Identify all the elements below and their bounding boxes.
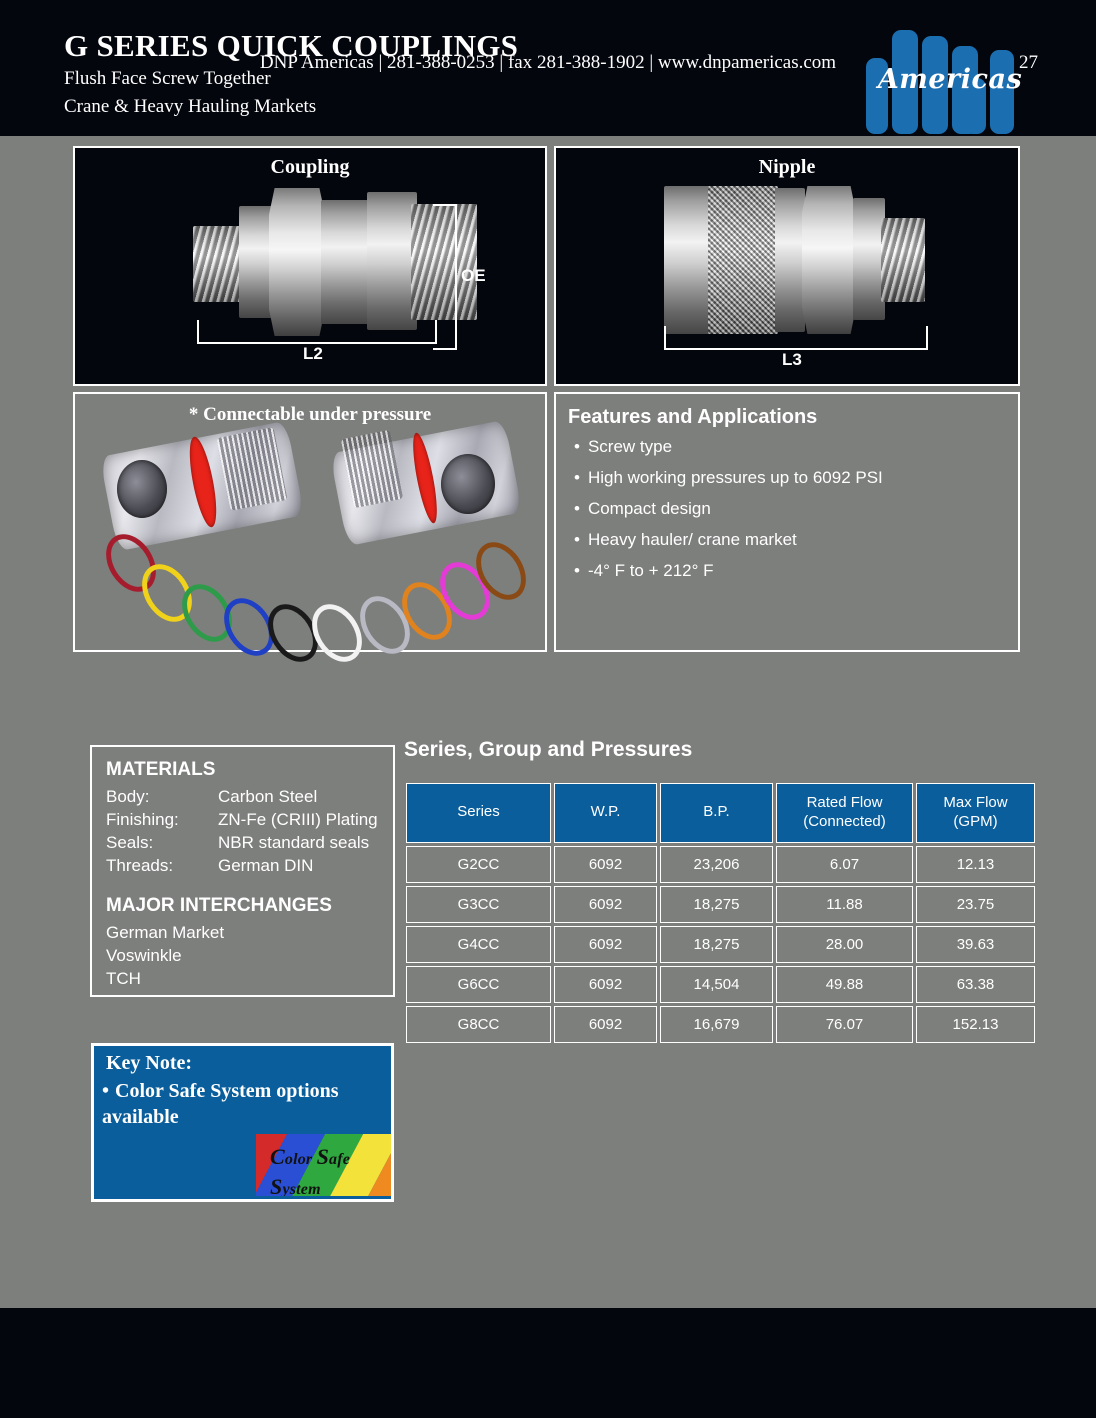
connectable-panel: * Connectable under pressure [73, 392, 547, 652]
nipple-dim-l3-label: L3 [782, 350, 802, 370]
materials-row-key: Threads: [106, 856, 173, 876]
cell-max-flow: 12.13 [916, 846, 1035, 883]
cell-series: G8CC [406, 1006, 551, 1043]
column-header-bp: B.P. [660, 783, 773, 843]
coupler-left-bore [117, 460, 167, 518]
cs-letter-s1: S [317, 1144, 329, 1169]
key-note-text: Color Safe System options available [102, 1080, 339, 1128]
key-note-title: Key Note: [106, 1052, 192, 1075]
dnp-americas-logo: Americas [860, 16, 1030, 134]
cell-bp: 16,679 [660, 1006, 773, 1043]
cell-wp: 6092 [554, 1006, 657, 1043]
feature-item: Heavy hauler/ crane market [574, 531, 883, 548]
cell-bp: 18,275 [660, 926, 773, 963]
interchange-item: TCH [106, 969, 141, 989]
materials-row-value: NBR standard seals [218, 833, 369, 853]
table-row: G4CC 6092 18,275 28.00 39.63 [406, 926, 1035, 963]
cell-bp: 18,275 [660, 886, 773, 923]
cell-series: G3CC [406, 886, 551, 923]
cs-letter-c: C [270, 1144, 285, 1169]
cs-ystem: ystem [282, 1181, 320, 1196]
cell-max-flow: 152.13 [916, 1006, 1035, 1043]
cs-letter-s2: S [270, 1174, 282, 1196]
coupling-dim-l2-bracket [197, 320, 437, 344]
materials-row-key: Seals: [106, 833, 153, 853]
nipple-body-end [664, 186, 712, 334]
cell-rated-flow: 28.00 [776, 926, 913, 963]
materials-heading: MATERIALS [106, 759, 215, 781]
cell-bp: 14,504 [660, 966, 773, 1003]
cs-olor: olor [285, 1151, 312, 1168]
coupling-body-2 [367, 192, 417, 330]
column-header-wp: W.P. [554, 783, 657, 843]
column-header-max-flow: Max Flow (GPM) [916, 783, 1035, 843]
footer-band [0, 1308, 1096, 1418]
features-heading: Features and Applications [568, 406, 817, 429]
cell-wp: 6092 [554, 886, 657, 923]
nipple-knurled-sleeve [708, 186, 778, 334]
cell-wp: 6092 [554, 846, 657, 883]
cell-series: G4CC [406, 926, 551, 963]
table-row: G6CC 6092 14,504 49.88 63.38 [406, 966, 1035, 1003]
cell-max-flow: 39.63 [916, 926, 1035, 963]
cs-afe: afe [329, 1151, 350, 1168]
materials-row-key: Finishing: [106, 810, 179, 830]
feature-item: Compact design [574, 500, 883, 517]
cell-bp: 23,206 [660, 846, 773, 883]
cell-rated-flow: 6.07 [776, 846, 913, 883]
cell-series: G2CC [406, 846, 551, 883]
interchange-item: Voswinkle [106, 946, 182, 966]
interchange-item: German Market [106, 923, 224, 943]
table-row: G3CC 6092 18,275 11.88 23.75 [406, 886, 1035, 923]
key-note-bullet: • [102, 1080, 109, 1102]
spec-table: Series W.P. B.P. Rated Flow (Connected) … [403, 780, 1038, 1046]
feature-item: -4° F to + 212° F [574, 562, 883, 579]
interchanges-heading: MAJOR INTERCHANGES [106, 895, 332, 917]
table-row: G8CC 6092 16,679 76.07 152.13 [406, 1006, 1035, 1043]
materials-row-value: German DIN [218, 856, 313, 876]
feature-item: Screw type [574, 438, 883, 455]
color-safe-system-logo: Color Safe System [256, 1134, 391, 1196]
features-panel: Features and Applications Screw type Hig… [554, 392, 1020, 652]
nipple-collar [775, 188, 805, 332]
coupling-hex-nut [269, 188, 325, 336]
cell-series: G6CC [406, 966, 551, 1003]
materials-box: MATERIALS Body: Carbon Steel Finishing: … [90, 745, 395, 997]
cell-wp: 6092 [554, 926, 657, 963]
column-header-series: Series [406, 783, 551, 843]
cell-rated-flow: 76.07 [776, 1006, 913, 1043]
features-list: Screw type High working pressures up to … [574, 438, 883, 593]
color-safe-wordmark: Color Safe System [270, 1142, 350, 1196]
coupling-dim-oe-label: OE [461, 266, 486, 286]
spec-table-title: Series, Group and Pressures [404, 738, 692, 762]
key-note-box: Key Note: •Color Safe System options ava… [91, 1043, 394, 1202]
coupling-body-1 [321, 200, 373, 324]
materials-row-key: Body: [106, 787, 149, 807]
table-header-row: Series W.P. B.P. Rated Flow (Connected) … [406, 783, 1035, 843]
title-block: G SERIES QUICK COUPLINGS Flush Face Scre… [64, 30, 518, 120]
nipple-thread [881, 218, 925, 302]
coupler-right-bore [441, 454, 495, 514]
nipple-image-panel: Nipple L3 [554, 146, 1020, 386]
nipple-illustration: L3 [556, 148, 1018, 384]
feature-item: High working pressures up to 6092 PSI [574, 469, 883, 486]
column-header-rated-flow: Rated Flow (Connected) [776, 783, 913, 843]
connectable-panel-title: * Connectable under pressure [75, 404, 545, 426]
coupling-thread-left [193, 226, 243, 302]
table-row: G2CC 6092 23,206 6.07 12.13 [406, 846, 1035, 883]
datasheet-page: G SERIES QUICK COUPLINGS Flush Face Scre… [0, 0, 1096, 1418]
coupling-dim-l2-label: L2 [303, 344, 323, 364]
materials-row-value: Carbon Steel [218, 787, 317, 807]
footer-contact-info: DNP Americas | 281-388-0253 | fax 281-38… [0, 52, 1096, 74]
cell-max-flow: 23.75 [916, 886, 1035, 923]
footer-page-number: 27 [1019, 52, 1038, 74]
cell-rated-flow: 11.88 [776, 886, 913, 923]
nipple-dim-l3-bracket [664, 326, 928, 350]
cell-max-flow: 63.38 [916, 966, 1035, 1003]
coupling-illustration: L2 OE [75, 148, 545, 384]
cell-rated-flow: 49.88 [776, 966, 913, 1003]
nipple-hex-nut [802, 186, 856, 334]
key-note-text-wrapper: •Color Safe System options available [102, 1078, 387, 1130]
coupling-image-panel: Coupling L2 OE [73, 146, 547, 386]
materials-row-value: ZN-Fe (CRIII) Plating [218, 810, 378, 830]
cell-wp: 6092 [554, 966, 657, 1003]
subtitle-line-2: Crane & Heavy Hauling Markets [64, 94, 518, 120]
coupling-dim-oe-bracket [433, 204, 457, 350]
